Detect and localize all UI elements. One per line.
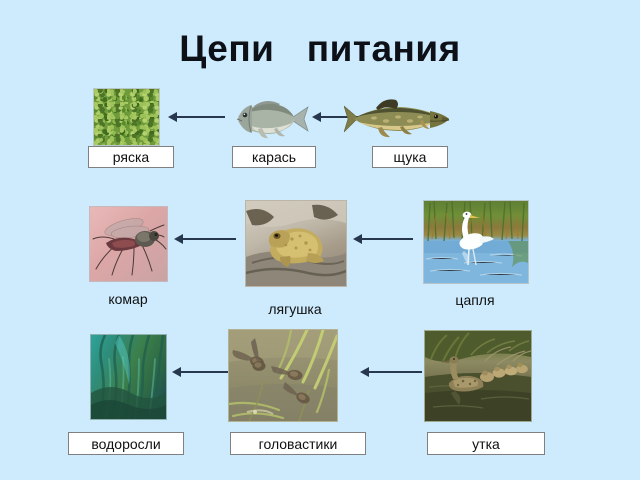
label-box-shchuka[interactable]: щука	[372, 146, 448, 168]
label-text: водоросли	[91, 437, 160, 451]
arrow-lyagushka-to-komar	[174, 233, 236, 245]
tadpoles-photo	[228, 329, 338, 422]
label-box-ryaska[interactable]: ряска	[88, 146, 174, 168]
crucian-carp-icon	[228, 95, 312, 143]
label-text: цапля	[455, 292, 494, 308]
tadpoles-icon	[229, 330, 337, 421]
label-box-golovastiki[interactable]: головастики	[230, 432, 366, 455]
label-text: карась	[252, 150, 296, 164]
slide-canvas: Цепи питания	[0, 0, 640, 480]
arrow-tsaplya-to-lyagushka	[353, 233, 413, 245]
label-komar: комар	[80, 291, 176, 307]
label-text: щука	[394, 150, 427, 164]
arrow-karas-to-ryaska	[168, 111, 225, 123]
pike-photo	[344, 96, 450, 142]
label-box-utka[interactable]: утка	[427, 432, 545, 455]
label-text: головастики	[259, 437, 338, 451]
label-lyagushka: лягушка	[247, 301, 343, 317]
algae-photo	[90, 334, 167, 420]
arrow-shaft	[179, 371, 232, 373]
pike-icon	[344, 96, 450, 142]
arrow-utka-to-golovastiki	[360, 366, 422, 378]
duckweed-photo	[93, 88, 160, 146]
label-text: ряска	[113, 150, 149, 164]
page-title: Цепи питания	[0, 28, 640, 70]
arrow-shaft	[181, 238, 236, 240]
arrow-shaft	[175, 116, 225, 118]
crucian-carp-photo	[228, 95, 312, 143]
heron-photo	[423, 200, 529, 284]
label-box-vodorosli[interactable]: водоросли	[68, 432, 184, 455]
duck-icon	[425, 331, 531, 421]
duck-photo	[424, 330, 532, 422]
label-tsaplya: цапля	[427, 292, 523, 308]
label-box-karas[interactable]: карась	[232, 146, 316, 168]
heron-icon	[424, 201, 528, 283]
mosquito-photo	[89, 206, 168, 282]
mosquito-icon	[90, 207, 167, 281]
frog-icon	[246, 201, 346, 286]
label-text: утка	[472, 437, 500, 451]
algae-icon	[91, 335, 166, 419]
label-text: комар	[108, 291, 147, 307]
frog-photo	[245, 200, 347, 287]
arrow-shaft	[360, 238, 413, 240]
arrow-golovastiki-to-vodorosli	[172, 366, 232, 378]
arrow-shaft	[367, 371, 422, 373]
label-text: лягушка	[268, 301, 321, 317]
